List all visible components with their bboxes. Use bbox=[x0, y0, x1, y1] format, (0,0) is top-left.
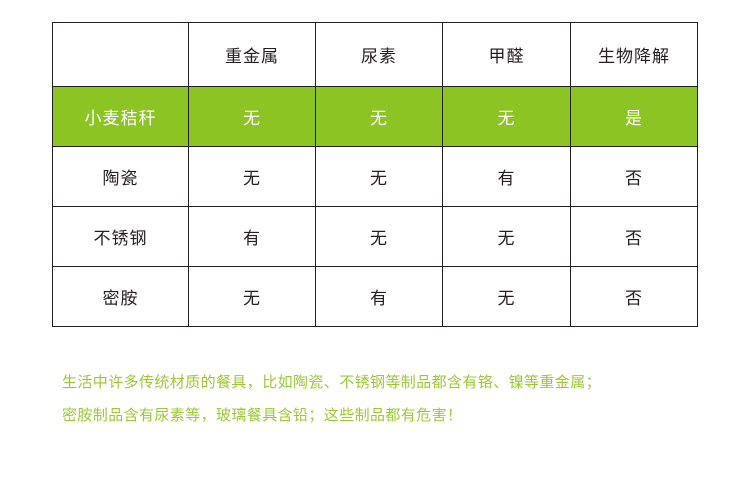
table-header-row: 重金属 尿素 甲醛 生物降解 bbox=[53, 23, 698, 87]
table-header: 重金属 尿素 甲醛 生物降解 bbox=[53, 23, 698, 87]
cell-wheat-straw-urea: 无 bbox=[316, 87, 443, 147]
caption-line-2: 密胺制品含有尿素等，玻璃餐具含铅；这些制品都有危害！ bbox=[62, 399, 722, 432]
cell-melamine-heavy-metal: 无 bbox=[189, 267, 316, 327]
cell-wheat-straw-biodegradable: 是 bbox=[571, 87, 698, 147]
cell-stainless-steel-formaldehyde: 无 bbox=[443, 207, 571, 267]
material-comparison-table: 重金属 尿素 甲醛 生物降解 小麦秸秆 无 无 无 是 陶瓷 无 无 bbox=[52, 22, 698, 327]
cell-melamine-biodegradable: 否 bbox=[571, 267, 698, 327]
cell-melamine-formaldehyde: 无 bbox=[443, 267, 571, 327]
cell-stainless-steel-biodegradable: 否 bbox=[571, 207, 698, 267]
column-header-urea: 尿素 bbox=[316, 23, 443, 87]
row-label-wheat-straw: 小麦秸秆 bbox=[53, 87, 189, 147]
table-body: 小麦秸秆 无 无 无 是 陶瓷 无 无 有 否 不锈钢 有 无 bbox=[53, 87, 698, 327]
cell-wheat-straw-heavy-metal: 无 bbox=[189, 87, 316, 147]
column-header-heavy-metal: 重金属 bbox=[189, 23, 316, 87]
table-row: 陶瓷 无 无 有 否 bbox=[53, 147, 698, 207]
table-row: 不锈钢 有 无 无 否 bbox=[53, 207, 698, 267]
column-header-biodegradable: 生物降解 bbox=[571, 23, 698, 87]
row-label-ceramic: 陶瓷 bbox=[53, 147, 189, 207]
comparison-table-container: 重金属 尿素 甲醛 生物降解 小麦秸秆 无 无 无 是 陶瓷 无 无 bbox=[52, 22, 697, 327]
cell-ceramic-urea: 无 bbox=[316, 147, 443, 207]
page-root: 重金属 尿素 甲醛 生物降解 小麦秸秆 无 无 无 是 陶瓷 无 无 bbox=[0, 0, 750, 483]
row-label-stainless-steel: 不锈钢 bbox=[53, 207, 189, 267]
cell-wheat-straw-formaldehyde: 无 bbox=[443, 87, 571, 147]
cell-ceramic-formaldehyde: 有 bbox=[443, 147, 571, 207]
cell-stainless-steel-urea: 无 bbox=[316, 207, 443, 267]
caption-block: 生活中许多传统材质的餐具，比如陶瓷、不锈钢等制品都含有铬、镍等重金属； 密胺制品… bbox=[62, 366, 722, 432]
column-header-formaldehyde: 甲醛 bbox=[443, 23, 571, 87]
cell-stainless-steel-heavy-metal: 有 bbox=[189, 207, 316, 267]
caption-line-1: 生活中许多传统材质的餐具，比如陶瓷、不锈钢等制品都含有铬、镍等重金属； bbox=[62, 366, 722, 399]
cell-melamine-urea: 有 bbox=[316, 267, 443, 327]
row-label-melamine: 密胺 bbox=[53, 267, 189, 327]
table-row: 小麦秸秆 无 无 无 是 bbox=[53, 87, 698, 147]
cell-ceramic-heavy-metal: 无 bbox=[189, 147, 316, 207]
table-corner-cell bbox=[53, 23, 189, 87]
table-row: 密胺 无 有 无 否 bbox=[53, 267, 698, 327]
cell-ceramic-biodegradable: 否 bbox=[571, 147, 698, 207]
